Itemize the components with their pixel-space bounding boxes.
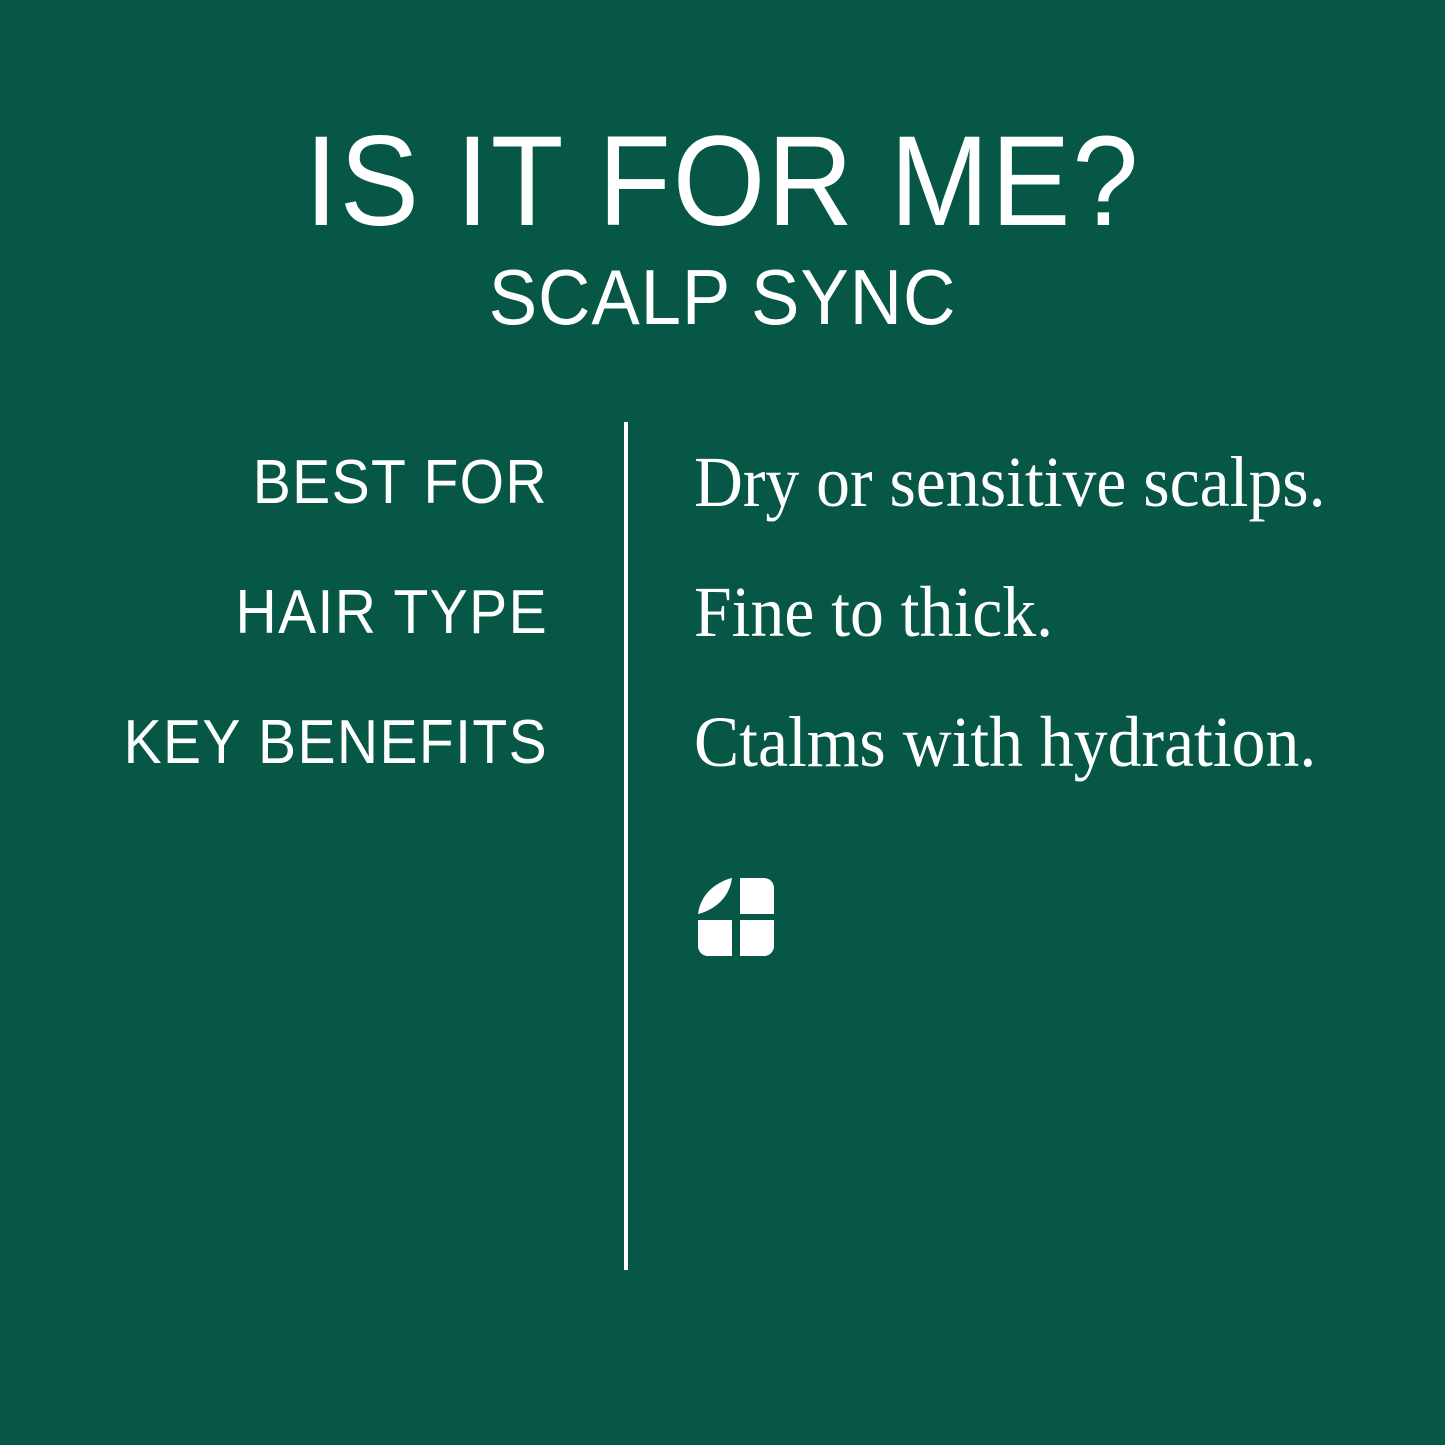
spec-row: HAIR TYPE Fine to thick.: [0, 582, 1445, 712]
spec-list: BEST FOR Dry or sensitive scalps. HAIR T…: [0, 452, 1445, 842]
spec-value-key-benefits: Ctalms with hydration.: [694, 706, 1316, 778]
spec-label-best-for: BEST FOR: [44, 452, 548, 514]
product-info-card: IS IT FOR ME? SCALP SYNC BEST FOR Dry or…: [0, 0, 1445, 1445]
page-title: IS IT FOR ME?: [51, 118, 1395, 246]
leaf-grid-logo-icon: [696, 876, 776, 958]
spec-label-key-benefits: KEY BENEFITS: [44, 712, 548, 774]
spec-row: BEST FOR Dry or sensitive scalps.: [0, 452, 1445, 582]
spec-row: KEY BENEFITS Ctalms with hydration.: [0, 712, 1445, 842]
spec-label-hair-type: HAIR TYPE: [44, 582, 548, 644]
card-header: IS IT FOR ME? SCALP SYNC: [0, 118, 1445, 336]
spec-value-best-for: Dry or sensitive scalps.: [694, 446, 1326, 518]
product-name-subtitle: SCALP SYNC: [51, 258, 1395, 336]
spec-value-hair-type: Fine to thick.: [694, 576, 1053, 648]
